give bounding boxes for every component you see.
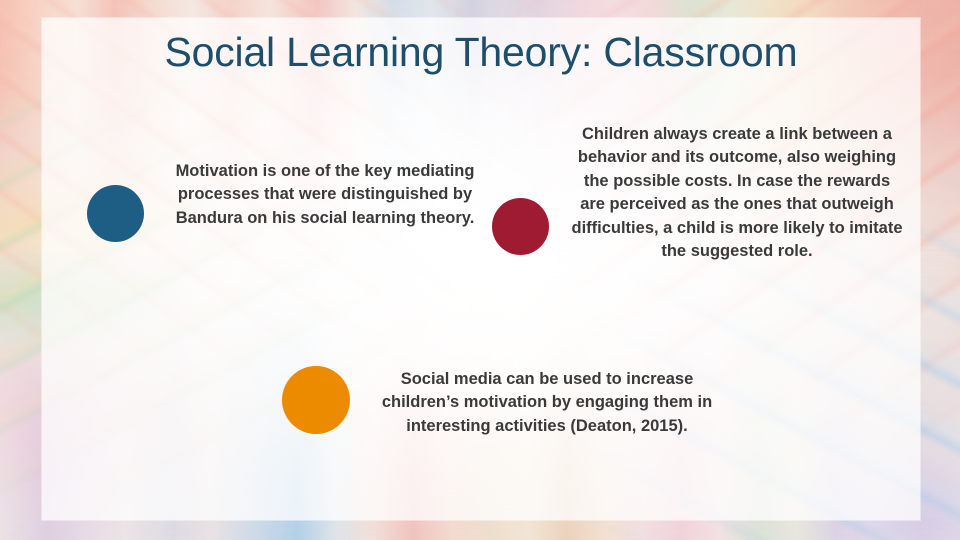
slide-canvas: Social Learning Theory: Classroom Motiva… xyxy=(0,0,960,540)
content-panel xyxy=(42,18,920,520)
bullet-text-children: Children always create a link between a … xyxy=(570,123,904,264)
bullet-text-social-media: Social media can be used to increase chi… xyxy=(380,368,714,438)
slide-title: Social Learning Theory: Classroom xyxy=(42,30,920,76)
bullet-dot-crimson xyxy=(492,198,549,255)
bullet-dot-blue xyxy=(87,185,144,242)
bullet-dot-orange xyxy=(282,366,350,434)
bullet-text-motivation: Motivation is one of the key mediating p… xyxy=(158,160,492,230)
